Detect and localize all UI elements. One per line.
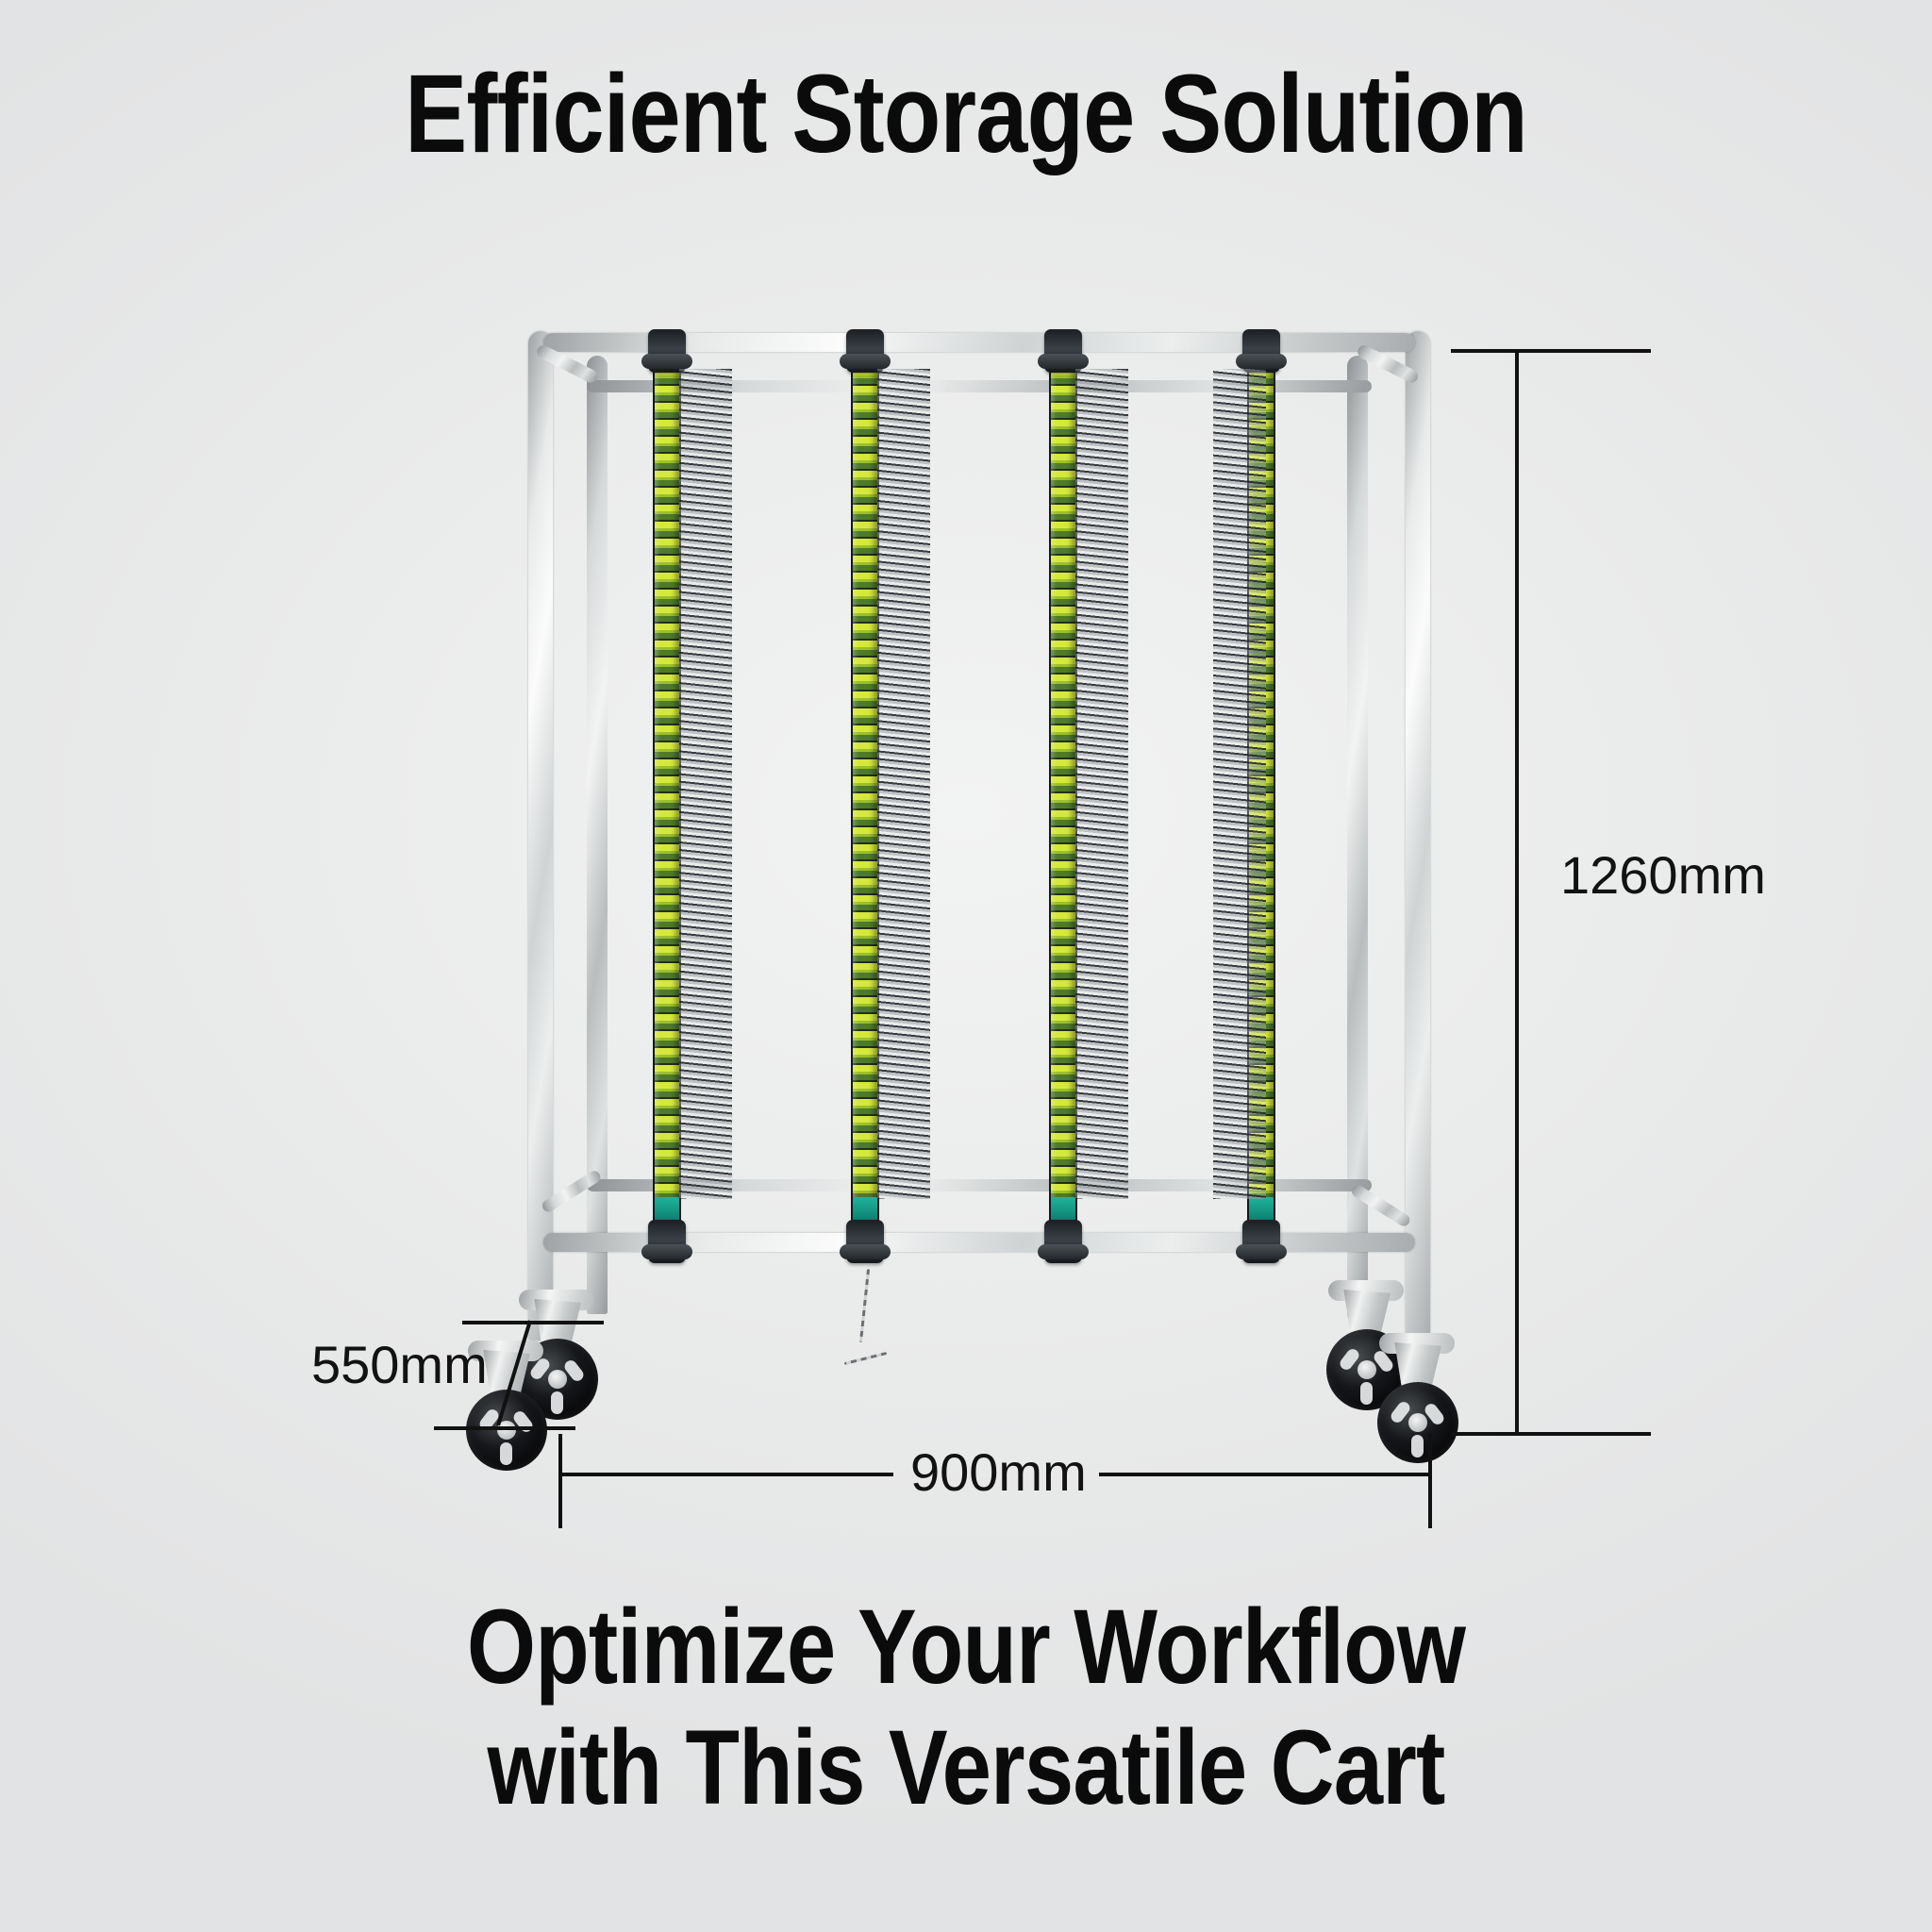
strip-end-cap: [1249, 1197, 1274, 1222]
caption-line-2: with This Versatile Cart: [155, 1715, 1777, 1821]
caster-spoke: [1411, 1435, 1424, 1457]
caster-spoke: [551, 1391, 563, 1414]
knife-blade-stack: [1213, 369, 1266, 1199]
strip-clamp-top: [846, 329, 884, 373]
dimension-height-tick-top: [1451, 349, 1651, 353]
dimension-width-line-right: [1099, 1473, 1432, 1476]
cart-frame-post-left-front: [587, 356, 608, 1314]
cart-frame-post-right-rear: [1347, 356, 1368, 1318]
strip-end-cap: [1051, 1197, 1075, 1222]
knife-handle-stack: [655, 352, 679, 1201]
dimension-depth-label: 550mm: [311, 1334, 488, 1395]
dimension-width-line-left: [558, 1473, 893, 1476]
knife-strip: [851, 352, 879, 1229]
dimension-height-line: [1515, 351, 1519, 1436]
knife-blade-stack: [679, 369, 732, 1199]
dimension-depth-tick-bottom: [434, 1426, 575, 1430]
dimension-depth-tick-top: [462, 1321, 604, 1324]
product-image-canvas: Efficient Storage Solution: [0, 0, 1932, 1932]
knife-handle-stack: [853, 352, 877, 1201]
caster-hub: [1357, 1360, 1376, 1379]
page-title: Efficient Storage Solution: [155, 58, 1777, 170]
knife-blade-stack: [877, 369, 930, 1199]
strip-clamp-bottom: [648, 1220, 686, 1263]
caster-wheel-front-right: [1377, 1342, 1458, 1463]
product-illustration-cart: [528, 325, 1434, 1439]
dimension-height-tick-bottom: [1451, 1432, 1651, 1436]
caster-hub: [1408, 1413, 1427, 1432]
strip-clamp-bottom: [1242, 1220, 1280, 1263]
knife-strip: [1049, 352, 1077, 1229]
knife-blade-stack: [1075, 369, 1128, 1199]
dimension-width-label: 900mm: [910, 1441, 1087, 1503]
caster-spoke: [500, 1442, 512, 1465]
strip-clamp-top: [1242, 329, 1280, 373]
strip-clamp-top: [648, 329, 686, 373]
strip-clamp-bottom: [1044, 1220, 1082, 1263]
safety-chain: [859, 1269, 870, 1342]
knife-handle-stack: [1051, 352, 1075, 1201]
strip-end-cap: [655, 1197, 679, 1222]
dimension-height-label: 1260mm: [1560, 844, 1766, 906]
dimension-width-tick-left: [558, 1434, 562, 1528]
caption-line-1: Optimize Your Workflow: [155, 1594, 1777, 1700]
dimension-width-tick-right: [1428, 1434, 1432, 1528]
caster-spoke: [1360, 1382, 1373, 1405]
caster-hub: [548, 1370, 567, 1389]
strip-clamp-top: [1044, 329, 1082, 373]
cart-frame-post-left-rear: [528, 331, 553, 1341]
safety-chain-tail: [844, 1352, 887, 1365]
cart-frame-post-right-front: [1406, 331, 1430, 1344]
knife-strip: [653, 352, 681, 1229]
strip-clamp-bottom: [846, 1220, 884, 1263]
strip-end-cap: [853, 1197, 877, 1222]
